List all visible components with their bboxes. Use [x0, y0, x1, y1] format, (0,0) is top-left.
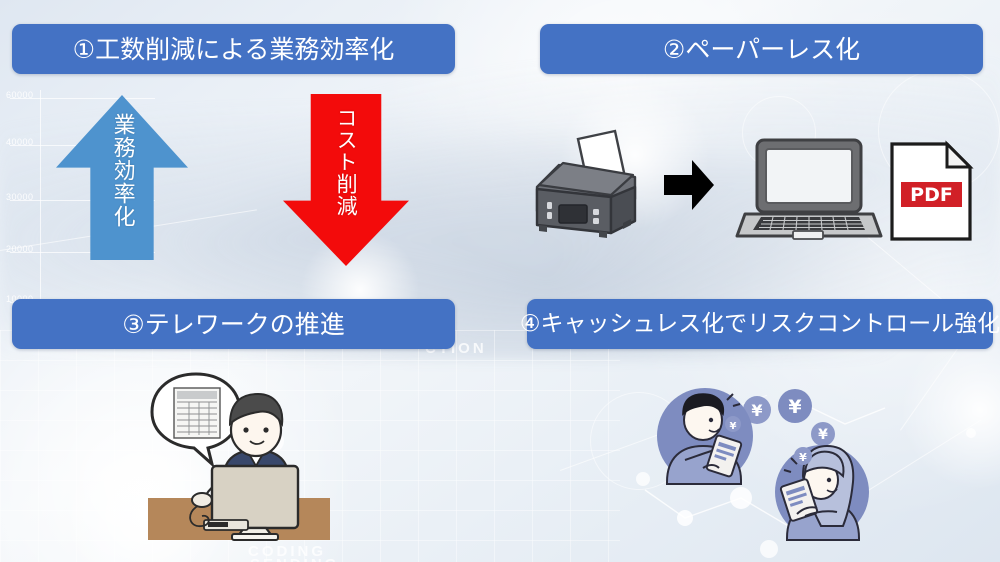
pdf-label: PDF [910, 184, 953, 206]
yen-symbol: ¥ [788, 396, 801, 418]
yen-symbol: ¥ [730, 421, 737, 432]
right-arrow-icon [662, 158, 716, 212]
telework-illustration [140, 368, 335, 546]
pdf-file-icon: PDF [889, 141, 973, 242]
yen-symbol: ¥ [751, 401, 762, 420]
quadrant-2-title-pill[interactable]: ②ペーパーレス化 [540, 24, 983, 74]
quadrant-4-title-pill[interactable]: ④キャッシュレス化でリスクコントロール強化 [527, 299, 993, 349]
background-word: SENDING [250, 556, 339, 562]
up-arrow-efficiency: 業務効率化 [56, 95, 188, 260]
axis-number: 40000 [6, 137, 34, 147]
axis-number: 60000 [6, 90, 34, 100]
axis-number: 20000 [6, 244, 34, 254]
slide-canvas: 60000 40000 30000 20000 10000 CTION CODI… [0, 0, 1000, 562]
quadrant-2-title-text: ②ペーパーレス化 [663, 37, 860, 62]
down-arrow-label: コスト削減 [335, 107, 357, 217]
yen-symbol: ¥ [818, 427, 828, 443]
cashless-illustration: ¥ ¥ ¥ [645, 380, 885, 545]
yen-symbol: ¥ [799, 451, 807, 464]
quadrant-3-title-pill[interactable]: ③テレワークの推進 [12, 299, 455, 349]
laptop-icon [735, 138, 881, 248]
quadrant-4-title-text: ④キャッシュレス化でリスクコントロール強化 [520, 313, 1000, 336]
axis-number: 30000 [6, 192, 34, 202]
quadrant-1-title-pill[interactable]: ①工数削減による業務効率化 [12, 24, 455, 74]
quadrant-1-title-text: ①工数削減による業務効率化 [73, 37, 395, 62]
up-arrow-label: 業務効率化 [110, 113, 133, 228]
down-arrow-cost: コスト削減 [283, 94, 409, 266]
printer-icon [523, 125, 648, 250]
quadrant-3-title-text: ③テレワークの推進 [122, 312, 344, 337]
